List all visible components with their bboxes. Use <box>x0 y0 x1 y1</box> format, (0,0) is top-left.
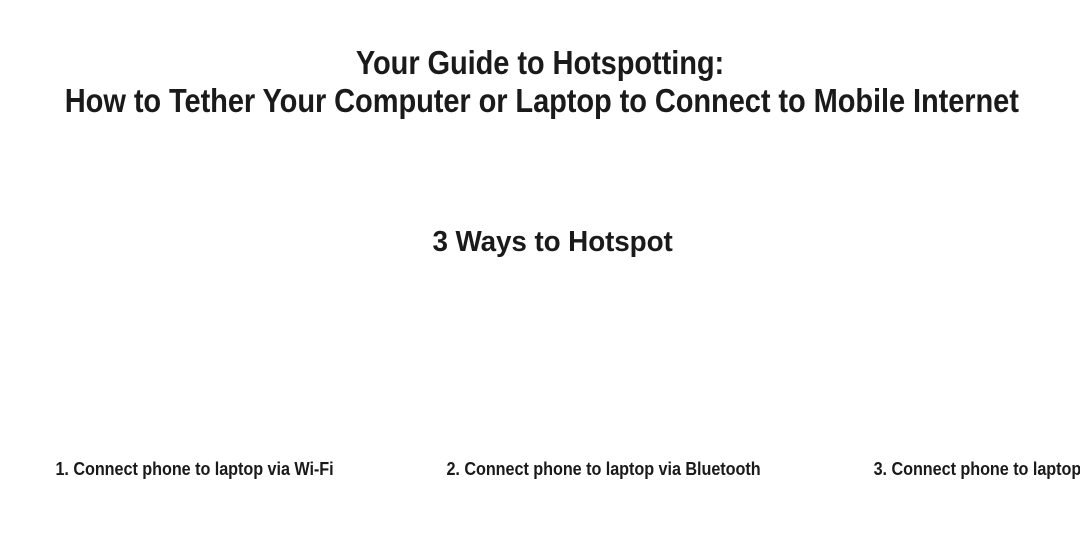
page-title-line-2: How to Tether Your Computer or Laptop to… <box>65 82 1015 120</box>
article-page: Your Guide to Hotspotting: How to Tether… <box>0 0 1080 552</box>
figure-caption-bluetooth: 2. Connect phone to laptop via Bluetooth <box>446 458 760 502</box>
figure-caption-cable: 3. Connect phone to laptop via cable <box>874 458 1080 502</box>
section-heading: 3 Ways to Hotspot <box>0 224 1080 260</box>
figure-caption-wifi: 1. Connect phone to laptop via Wi-Fi <box>55 458 333 502</box>
figure-row: 1. Connect phone to laptop via Wi-Fi 2. … <box>0 282 1080 518</box>
page-title: Your Guide to Hotspotting: How to Tether… <box>0 44 1080 120</box>
figure-image-bluetooth <box>429 266 778 458</box>
figure-image-cable <box>858 266 1080 458</box>
figure-wifi: 1. Connect phone to laptop via Wi-Fi <box>40 266 349 502</box>
section-heading-text: 3 Ways to Hotspot <box>407 224 672 260</box>
figure-cable: 3. Connect phone to laptop via cable <box>858 266 1080 502</box>
figure-bluetooth: 2. Connect phone to laptop via Bluetooth <box>429 266 778 502</box>
page-title-line-1: Your Guide to Hotspotting: <box>65 44 1015 82</box>
figure-image-wifi <box>40 266 349 458</box>
